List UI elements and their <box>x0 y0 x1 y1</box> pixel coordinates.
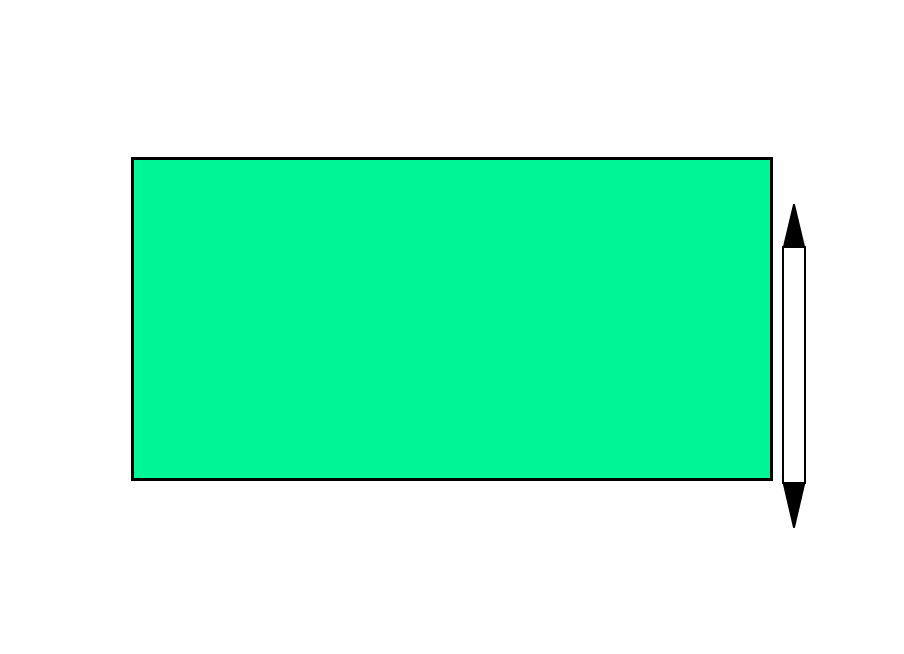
colorbar-bands <box>782 246 806 484</box>
colorbar-top-cap-icon <box>782 204 806 248</box>
colorbar <box>782 204 806 526</box>
colorbar-bottom-cap-icon <box>782 482 806 528</box>
figure-canvas <box>0 0 904 654</box>
plot-area <box>131 157 773 481</box>
heatmap-field <box>134 160 770 478</box>
